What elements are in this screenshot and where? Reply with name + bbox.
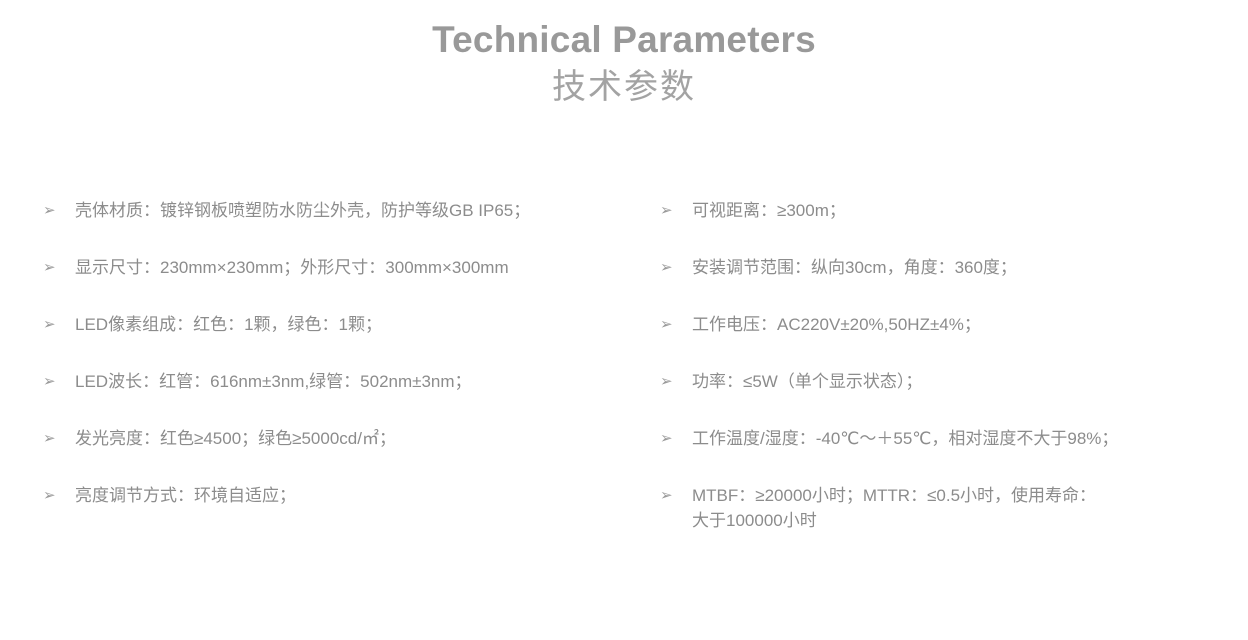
arrow-bullet-icon: ➢ — [43, 426, 75, 451]
spec-text: 可视距离：≥300m； — [692, 198, 1248, 223]
arrow-bullet-icon: ➢ — [660, 198, 692, 223]
spec-text: MTBF：≥20000小时；MTTR：≤0.5小时，使用寿命： 大于100000… — [692, 483, 1248, 533]
spec-text: 显示尺寸：230mm×230mm；外形尺寸：300mm×300mm — [75, 255, 660, 280]
arrow-bullet-icon: ➢ — [660, 312, 692, 337]
technical-parameters-page: Technical Parameters 技术参数 ➢ 壳体材质：镀锌钢板喷塑防… — [0, 0, 1248, 640]
page-title-chinese: 技术参数 — [0, 64, 1248, 110]
spec-item: ➢ MTBF：≥20000小时；MTTR：≤0.5小时，使用寿命： 大于1000… — [660, 483, 1248, 533]
spec-item: ➢ 可视距离：≥300m； — [660, 198, 1248, 255]
spec-text: 安装调节范围：纵向30cm，角度：360度； — [692, 255, 1248, 280]
spec-text: 工作电压：AC220V±20%,50HZ±4%； — [692, 312, 1248, 337]
spec-item: ➢ 发光亮度：红色≥4500；绿色≥5000cd/㎡； — [43, 426, 660, 483]
spec-text: LED波长：红管：616nm±3nm,绿管：502nm±3nm； — [75, 369, 660, 394]
spec-text: 发光亮度：红色≥4500；绿色≥5000cd/㎡； — [75, 426, 660, 451]
spec-item: ➢ LED波长：红管：616nm±3nm,绿管：502nm±3nm； — [43, 369, 660, 426]
arrow-bullet-icon: ➢ — [660, 426, 692, 451]
spec-item: ➢ 功率：≤5W（单个显示状态）； — [660, 369, 1248, 426]
spec-text: 壳体材质：镀锌钢板喷塑防水防尘外壳，防护等级GB IP65； — [75, 198, 660, 223]
arrow-bullet-icon: ➢ — [43, 483, 75, 508]
arrow-bullet-icon: ➢ — [43, 312, 75, 337]
spec-item: ➢ LED像素组成：红色：1颗，绿色：1颗； — [43, 312, 660, 369]
arrow-bullet-icon: ➢ — [43, 198, 75, 223]
spec-item: ➢ 亮度调节方式：环境自适应； — [43, 483, 660, 540]
spec-item: ➢ 工作温度/湿度：-40℃～＋55℃，相对湿度不大于98%； — [660, 426, 1248, 483]
arrow-bullet-icon: ➢ — [660, 369, 692, 394]
arrow-bullet-icon: ➢ — [43, 255, 75, 280]
spec-column-left: ➢ 壳体材质：镀锌钢板喷塑防水防尘外壳，防护等级GB IP65； ➢ 显示尺寸：… — [0, 198, 660, 540]
spec-column-right: ➢ 可视距离：≥300m； ➢ 安装调节范围：纵向30cm，角度：360度； ➢… — [660, 198, 1248, 533]
spec-columns: ➢ 壳体材质：镀锌钢板喷塑防水防尘外壳，防护等级GB IP65； ➢ 显示尺寸：… — [0, 198, 1248, 540]
spec-item: ➢ 显示尺寸：230mm×230mm；外形尺寸：300mm×300mm — [43, 255, 660, 312]
spec-text: 亮度调节方式：环境自适应； — [75, 483, 660, 508]
spec-text: LED像素组成：红色：1颗，绿色：1颗； — [75, 312, 660, 337]
spec-item: ➢ 壳体材质：镀锌钢板喷塑防水防尘外壳，防护等级GB IP65； — [43, 198, 660, 255]
arrow-bullet-icon: ➢ — [43, 369, 75, 394]
arrow-bullet-icon: ➢ — [660, 255, 692, 280]
spec-text: 工作温度/湿度：-40℃～＋55℃，相对湿度不大于98%； — [692, 426, 1248, 451]
spec-item: ➢ 工作电压：AC220V±20%,50HZ±4%； — [660, 312, 1248, 369]
spec-item: ➢ 安装调节范围：纵向30cm，角度：360度； — [660, 255, 1248, 312]
arrow-bullet-icon: ➢ — [660, 483, 692, 508]
page-heading: Technical Parameters 技术参数 — [0, 16, 1248, 110]
spec-text: 功率：≤5W（单个显示状态）； — [692, 369, 1248, 394]
page-title-english: Technical Parameters — [0, 16, 1248, 64]
